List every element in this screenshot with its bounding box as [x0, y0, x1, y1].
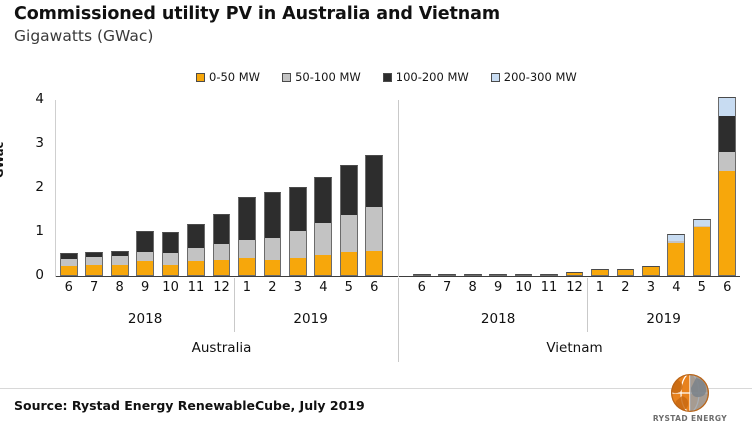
legend-label: 100-200 MW — [396, 70, 469, 84]
x-axis-month-tick: 4 — [664, 280, 689, 295]
legend-label: 200-300 MW — [504, 70, 577, 84]
bar-segment-100-200-mw — [340, 165, 358, 215]
year-separator — [234, 278, 235, 332]
source-note: Source: Rystad Energy RenewableCube, Jul… — [14, 398, 365, 413]
x-axis-month-tick: 9 — [485, 280, 510, 295]
bar-segment-50-100-mw — [136, 252, 154, 262]
x-axis-month-tick: 7 — [434, 280, 459, 295]
bar-segment-0-50-mw — [515, 275, 533, 276]
year-separator — [587, 278, 588, 332]
bar-segment-100-200-mw — [438, 274, 456, 276]
bar-segment-200-300-mw — [693, 219, 711, 226]
bar-segment-0-50-mw — [187, 261, 205, 276]
x-axis-month-tick: 3 — [285, 280, 310, 295]
bar-segment-50-100-mw — [213, 244, 231, 259]
x-axis-month-tick: 8 — [460, 280, 485, 295]
bar-australia-10[interactable] — [162, 232, 180, 276]
bar-vietnam-1[interactable] — [591, 269, 609, 276]
bar-segment-100-200-mw — [365, 155, 383, 206]
y-axis-tick-1: 1 — [0, 223, 44, 239]
chart-page: Commissioned utility PV in Australia and… — [0, 0, 752, 430]
rystad-energy-logo: RYSTAD ENERGY — [640, 372, 740, 428]
bar-australia-11[interactable] — [187, 224, 205, 276]
y-axis-tick-labels: 01234 — [0, 0, 52, 430]
legend-item-200-300-mw[interactable]: 200-300 MW — [491, 70, 577, 84]
legend-swatch-icon — [282, 73, 291, 82]
x-axis-month-tick: 11 — [183, 280, 208, 295]
bar-segment-0-50-mw — [718, 171, 736, 276]
bar-segment-50-100-mw — [162, 253, 180, 265]
x-axis-month-tick: 7 — [81, 280, 106, 295]
bar-segment-0-50-mw — [489, 275, 507, 276]
y-axis-tick-4: 4 — [0, 91, 44, 107]
bar-segment-0-50-mw — [566, 273, 584, 276]
y-axis-tick-0: 0 — [0, 267, 44, 283]
legend-swatch-icon — [491, 73, 500, 82]
bar-australia-3[interactable] — [289, 187, 307, 276]
globe-icon — [640, 372, 740, 414]
y-axis-tick-2: 2 — [0, 179, 44, 195]
bar-segment-100-200-mw — [264, 192, 282, 237]
bar-vietnam-9[interactable] — [489, 274, 507, 276]
bar-australia-6[interactable] — [60, 253, 78, 276]
bar-segment-50-100-mw — [264, 238, 282, 260]
x-axis-month-tick: 10 — [511, 280, 536, 295]
legend-item-100-200-mw[interactable]: 100-200 MW — [383, 70, 469, 84]
x-axis-month-tick: 5 — [336, 280, 361, 295]
bar-segment-50-100-mw — [85, 257, 103, 265]
legend-label: 0-50 MW — [209, 70, 260, 84]
bar-segment-0-50-mw — [85, 265, 103, 276]
x-axis-month-tick: 9 — [132, 280, 157, 295]
bar-segment-200-300-mw — [667, 234, 685, 241]
x-axis-month-tick: 6 — [362, 280, 387, 295]
bar-segment-0-50-mw — [289, 258, 307, 276]
y-axis-title: GWac — [0, 142, 6, 178]
x-axis-month-tick: 3 — [638, 280, 663, 295]
bar-segment-100-200-mw — [464, 274, 482, 276]
bar-segment-100-200-mw — [238, 197, 256, 240]
bar-segment-0-50-mw — [693, 227, 711, 276]
bar-segment-50-100-mw — [365, 207, 383, 252]
bar-segment-50-100-mw — [289, 231, 307, 257]
bar-vietnam-6[interactable] — [413, 274, 431, 276]
x-axis-country-label-australia: Australia — [56, 340, 387, 356]
bar-segment-0-50-mw — [136, 261, 154, 276]
bar-segment-50-100-mw — [60, 259, 78, 266]
bar-segment-100-200-mw — [314, 177, 332, 223]
bar-vietnam-7[interactable] — [438, 274, 456, 276]
chart-legend: 0-50 MW50-100 MW100-200 MW200-300 MW — [196, 70, 577, 84]
bar-segment-100-200-mw — [187, 224, 205, 249]
x-axis-month-tick: 12 — [562, 280, 587, 295]
bar-segment-0-50-mw — [340, 252, 358, 276]
bar-segment-0-50-mw — [264, 260, 282, 276]
bar-segment-0-50-mw — [365, 251, 383, 276]
bar-australia-2[interactable] — [264, 192, 282, 276]
logo-text: RYSTAD ENERGY — [640, 414, 740, 423]
bar-vietnam-5[interactable] — [693, 219, 711, 276]
bar-segment-0-50-mw — [213, 260, 231, 276]
x-axis-country-label-vietnam: Vietnam — [409, 340, 740, 356]
bar-segment-0-50-mw — [667, 243, 685, 276]
bar-segment-200-300-mw — [718, 97, 736, 116]
legend-label: 50-100 MW — [295, 70, 361, 84]
bar-vietnam-4[interactable] — [667, 234, 685, 276]
x-axis-year-label: 2018 — [56, 311, 234, 327]
bar-vietnam-3[interactable] — [642, 266, 660, 276]
x-axis-month-tick: 6 — [409, 280, 434, 295]
x-axis-month-tick: 1 — [234, 280, 259, 295]
x-axis-month-tick: 5 — [689, 280, 714, 295]
bar-vietnam-6[interactable] — [718, 97, 736, 276]
bar-segment-0-50-mw — [111, 265, 129, 276]
bar-vietnam-8[interactable] — [464, 274, 482, 276]
bar-segment-0-50-mw — [162, 265, 180, 276]
legend-item-50-100-mw[interactable]: 50-100 MW — [282, 70, 361, 84]
bar-vietnam-2[interactable] — [617, 269, 635, 276]
country-separator-upper — [398, 100, 399, 277]
bar-segment-100-200-mw — [413, 274, 431, 276]
page-title: Commissioned utility PV in Australia and… — [14, 4, 500, 24]
bar-segment-100-200-mw — [162, 232, 180, 253]
bar-segment-50-100-mw — [718, 152, 736, 170]
x-axis-month-tick: 1 — [587, 280, 612, 295]
bar-segment-0-50-mw — [642, 266, 660, 276]
bar-segment-100-200-mw — [136, 231, 154, 252]
x-axis-month-tick: 2 — [613, 280, 638, 295]
y-axis-tick-3: 3 — [0, 135, 44, 151]
bar-segment-0-50-mw — [591, 269, 609, 276]
x-axis-month-tick: 4 — [311, 280, 336, 295]
bar-australia-8[interactable] — [111, 251, 129, 276]
bar-australia-7[interactable] — [85, 252, 103, 276]
x-axis-month-tick: 12 — [209, 280, 234, 295]
country-separator — [398, 278, 399, 362]
bar-australia-9[interactable] — [136, 231, 154, 276]
bar-segment-0-50-mw — [314, 255, 332, 276]
x-axis-year-label: 2018 — [409, 311, 587, 327]
bar-segment-100-200-mw — [289, 187, 307, 231]
bar-segment-50-100-mw — [238, 240, 256, 258]
bar-segment-50-100-mw — [187, 248, 205, 261]
x-axis-month-tick: 8 — [107, 280, 132, 295]
bar-australia-5[interactable] — [340, 165, 358, 276]
bar-segment-0-50-mw — [617, 269, 635, 276]
legend-swatch-icon — [196, 73, 205, 82]
bar-vietnam-11[interactable] — [540, 274, 558, 276]
bar-vietnam-10[interactable] — [515, 274, 533, 276]
x-axis: 678910111212345620182019Australia6789101… — [56, 278, 740, 338]
x-axis-month-tick: 11 — [536, 280, 561, 295]
x-axis-year-label: 2019 — [234, 311, 387, 327]
bar-australia-6[interactable] — [365, 155, 383, 276]
x-axis-month-tick: 2 — [260, 280, 285, 295]
x-axis-year-label: 2019 — [587, 311, 740, 327]
bar-segment-100-200-mw — [718, 116, 736, 152]
bar-segment-0-50-mw — [238, 258, 256, 276]
bar-australia-4[interactable] — [314, 177, 332, 276]
bar-segment-50-100-mw — [340, 215, 358, 252]
bar-australia-1[interactable] — [238, 197, 256, 276]
x-axis-month-tick: 10 — [158, 280, 183, 295]
bar-segment-0-50-mw — [60, 266, 78, 276]
bar-segment-0-50-mw — [540, 275, 558, 276]
legend-item-0-50-mw[interactable]: 0-50 MW — [196, 70, 260, 84]
x-axis-month-tick: 6 — [715, 280, 740, 295]
bar-australia-12[interactable] — [213, 214, 231, 276]
x-axis-month-tick: 6 — [56, 280, 81, 295]
bar-segment-50-100-mw — [111, 256, 129, 265]
bar-vietnam-12[interactable] — [566, 272, 584, 276]
legend-swatch-icon — [383, 73, 392, 82]
bar-segment-50-100-mw — [314, 223, 332, 255]
bar-segment-100-200-mw — [213, 214, 231, 244]
